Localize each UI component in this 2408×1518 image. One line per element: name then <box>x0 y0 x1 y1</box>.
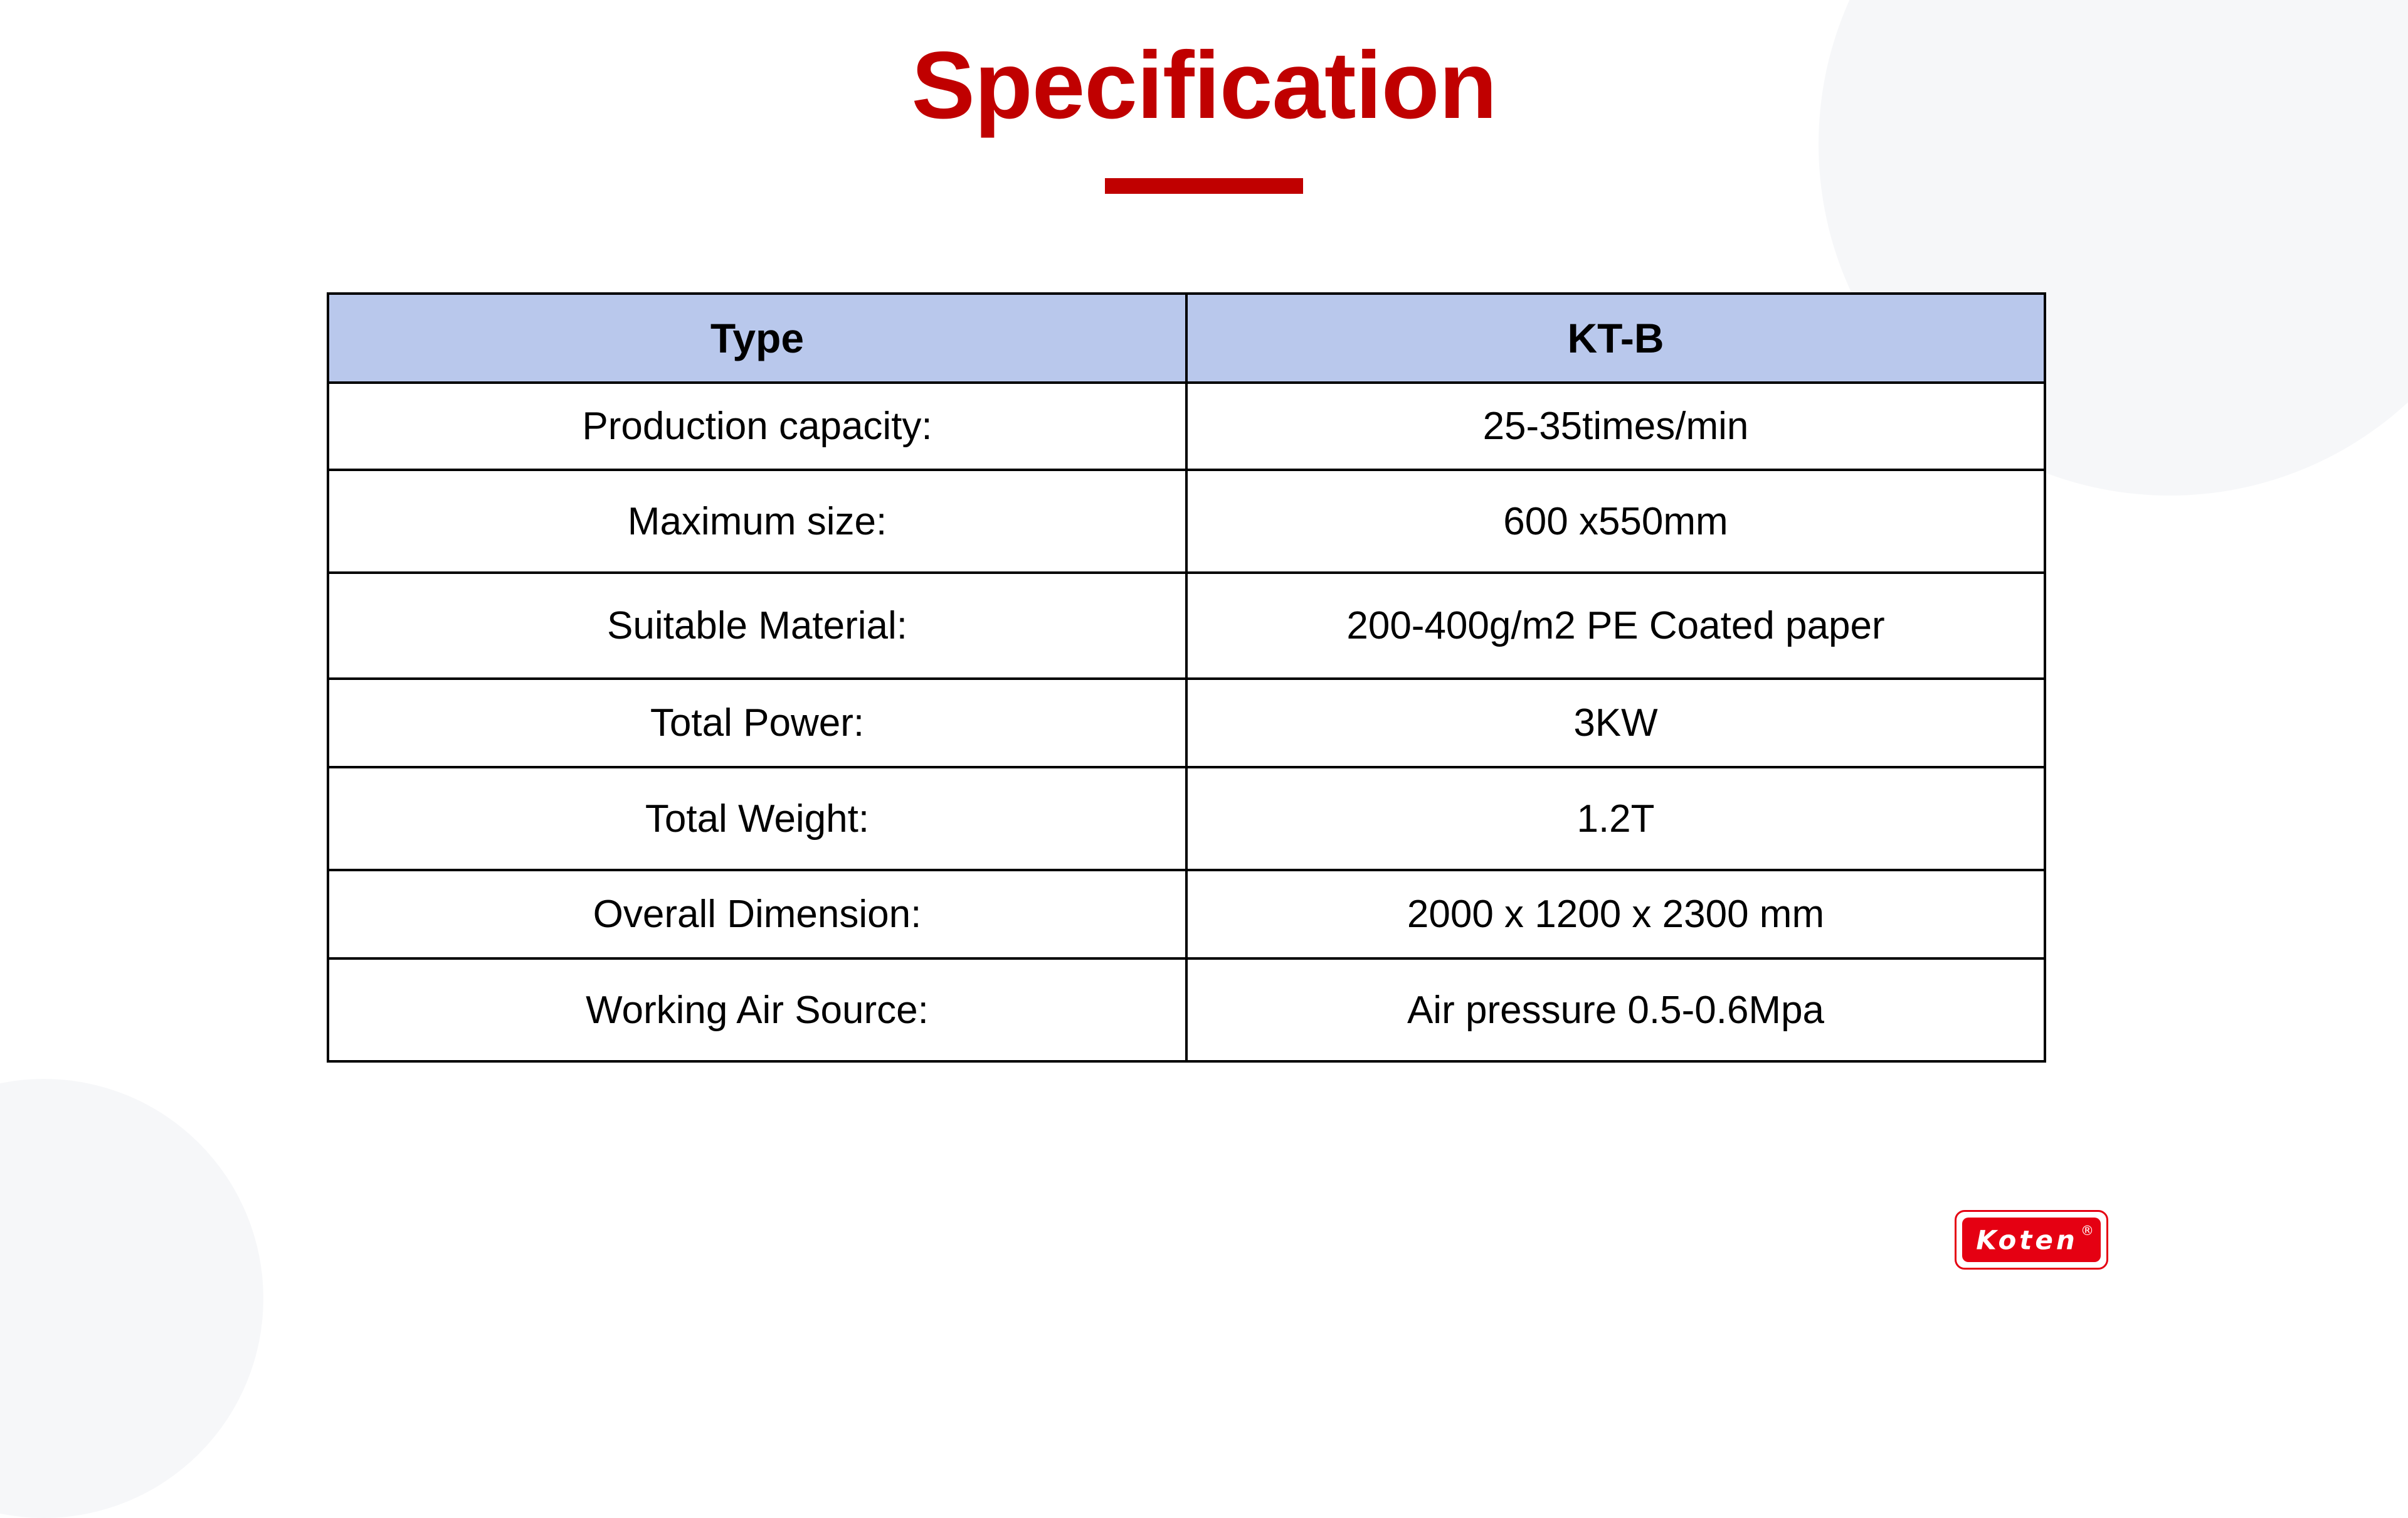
spec-label-total-power: Total Power: <box>328 679 1186 767</box>
table-row: Total Weight: 1.2T <box>328 767 2045 870</box>
koten-logo-plate: Koten ® <box>1962 1218 2101 1262</box>
spec-value-suitable-material: 200-400g/m2 PE Coated paper <box>1186 573 2045 679</box>
table-row: Suitable Material: 200-400g/m2 PE Coated… <box>328 573 2045 679</box>
spec-value-overall-dimension: 2000 x 1200 x 2300 mm <box>1186 870 2045 958</box>
table-row: Total Power: 3KW <box>328 679 2045 767</box>
column-header-model: KT-B <box>1186 294 2045 383</box>
spec-label-suitable-material: Suitable Material: <box>328 573 1186 679</box>
specification-table: Type KT-B Production capacity: 25-35time… <box>327 292 2046 1063</box>
spec-label-overall-dimension: Overall Dimension: <box>328 870 1186 958</box>
page-title: Specification <box>0 38 2408 133</box>
spec-label-working-air-source: Working Air Source: <box>328 958 1186 1061</box>
title-block: Specification <box>0 38 2408 194</box>
registered-trademark-icon: ® <box>2081 1224 2094 1238</box>
column-header-type: Type <box>328 294 1186 383</box>
koten-logo: Koten ® <box>1955 1210 2108 1270</box>
table-header-row: Type KT-B <box>328 294 2045 383</box>
spec-label-total-weight: Total Weight: <box>328 767 1186 870</box>
background-circle-bottom-left <box>0 1079 263 1518</box>
table-row: Maximum size: 600 x550mm <box>328 470 2045 573</box>
spec-label-maximum-size: Maximum size: <box>328 470 1186 573</box>
table-row: Production capacity: 25-35times/min <box>328 383 2045 470</box>
spec-value-total-power: 3KW <box>1186 679 2045 767</box>
table-row: Working Air Source: Air pressure 0.5-0.6… <box>328 958 2045 1061</box>
spec-label-production-capacity: Production capacity: <box>328 383 1186 470</box>
title-underline-bar <box>1105 178 1303 194</box>
spec-value-total-weight: 1.2T <box>1186 767 2045 870</box>
spec-value-working-air-source: Air pressure 0.5-0.6Mpa <box>1186 958 2045 1061</box>
spec-value-production-capacity: 25-35times/min <box>1186 383 2045 470</box>
table-row: Overall Dimension: 2000 x 1200 x 2300 mm <box>328 870 2045 958</box>
spec-value-maximum-size: 600 x550mm <box>1186 470 2045 573</box>
koten-wordmark: Koten <box>1962 1224 2101 1255</box>
